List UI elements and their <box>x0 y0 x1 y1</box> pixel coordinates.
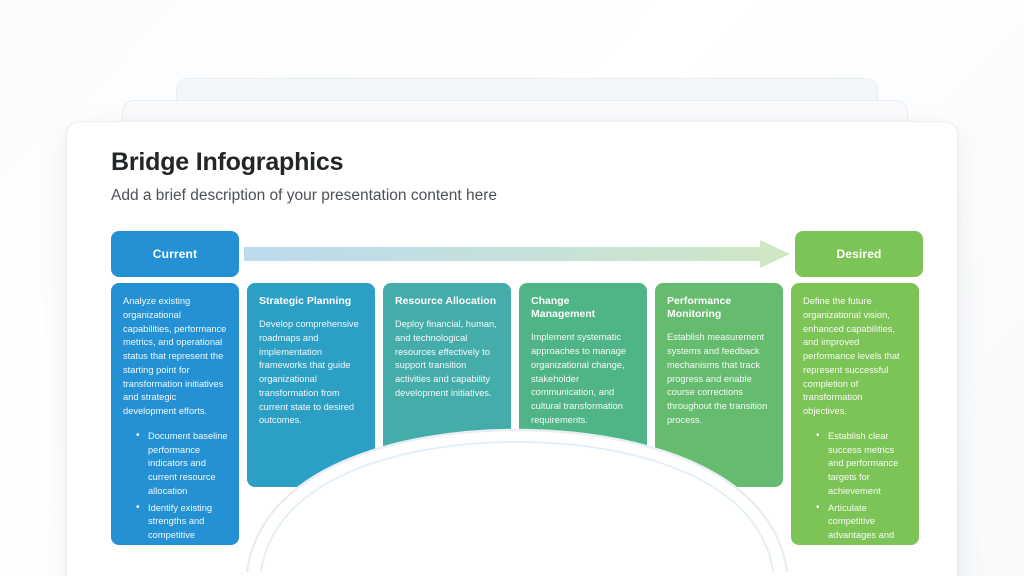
column-bullet-list: Establish clear success metrics and perf… <box>803 430 908 545</box>
column-body: Develop comprehensive roadmaps and imple… <box>259 318 364 428</box>
list-item: Establish clear success metrics and perf… <box>816 430 908 499</box>
current-state-pill[interactable]: Current <box>111 231 239 277</box>
column-body: Define the future organizational vision,… <box>803 295 908 419</box>
bridge-columns: Analyze existing organizational capabili… <box>111 283 923 569</box>
slide-canvas: Bridge Infographics Add a brief descript… <box>0 0 1024 576</box>
slide-header: Bridge Infographics Add a brief descript… <box>111 148 497 205</box>
page-title: Bridge Infographics <box>111 148 497 177</box>
column-body: Implement systematic approaches to manag… <box>531 331 636 427</box>
current-state-label: Current <box>153 247 197 261</box>
column-title: Change Management <box>531 295 636 321</box>
column-title: Resource Allocation <box>395 295 500 308</box>
column-bullet-list: Document baseline performance indicators… <box>123 430 228 545</box>
bridge-column-strategic-planning[interactable]: Strategic Planning Develop comprehensive… <box>247 283 375 487</box>
bridge-column-resource-allocation[interactable]: Resource Allocation Deploy financial, hu… <box>383 283 511 466</box>
desired-state-pill[interactable]: Desired <box>795 231 923 277</box>
bridge-column-performance-monitoring[interactable]: Performance Monitoring Establish measure… <box>655 283 783 487</box>
list-item: Document baseline performance indicators… <box>136 430 228 499</box>
column-title: Performance Monitoring <box>667 295 772 321</box>
bridge-column-current[interactable]: Analyze existing organizational capabili… <box>111 283 239 545</box>
column-title: Strategic Planning <box>259 295 364 308</box>
presentation-slide[interactable]: Bridge Infographics Add a brief descript… <box>66 121 958 576</box>
bridge-column-change-management[interactable]: Change Management Implement systematic a… <box>519 283 647 466</box>
page-subtitle: Add a brief description of your presenta… <box>111 186 497 205</box>
progression-band: Current Desired <box>111 231 923 277</box>
right-arrow-icon <box>244 240 790 268</box>
bridge-column-desired[interactable]: Define the future organizational vision,… <box>791 283 919 545</box>
desired-state-label: Desired <box>836 247 881 261</box>
column-body: Analyze existing organizational capabili… <box>123 295 228 419</box>
list-item: Identify existing strengths and competit… <box>136 502 228 546</box>
list-item: Articulate competitive advantages and ma… <box>816 502 908 546</box>
column-body: Deploy financial, human, and technologic… <box>395 318 500 401</box>
column-body: Establish measurement systems and feedba… <box>667 331 772 427</box>
